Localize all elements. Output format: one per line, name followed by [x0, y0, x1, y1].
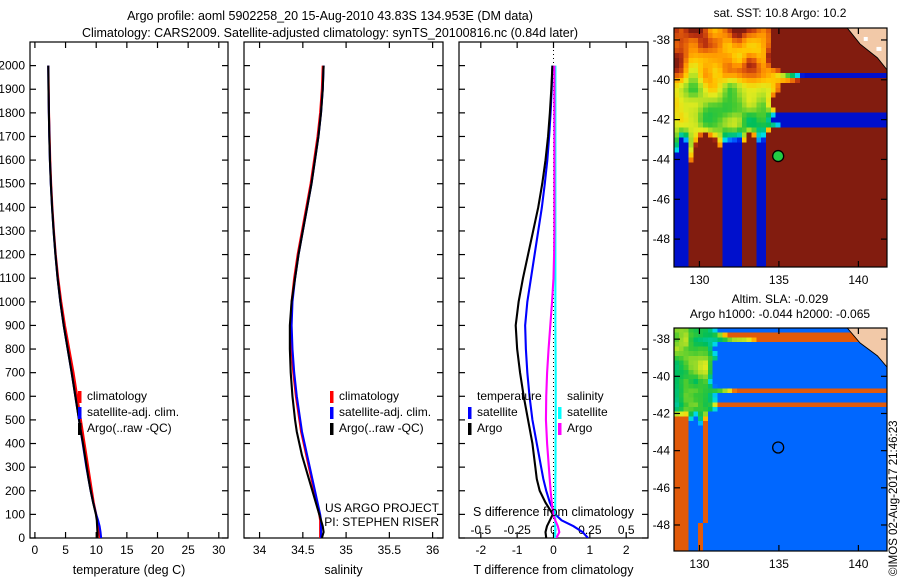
difference-profile-chart[interactable]: -2-1012-0.5-0.2500.250.5T difference fro…	[455, 38, 660, 580]
difference-legend-salinity-title: salinity	[567, 389, 604, 403]
y-tick-label: 1300	[0, 224, 25, 238]
x-tick-label: 36	[426, 543, 440, 557]
difference-legend-temperature-swatch	[468, 407, 472, 419]
sst-map[interactable]: 130135140-38-40-42-44-46-48	[660, 22, 900, 292]
y-tick-label: 1400	[0, 200, 25, 214]
y-tick-label: 900	[5, 318, 25, 332]
x-tick-label: 35	[339, 543, 353, 557]
x-axis-label: T difference from climatology	[473, 563, 634, 577]
map-y-tick-label: -42	[653, 113, 671, 127]
x-tick-label: 34.5	[291, 543, 315, 557]
sla-title-line-2: Argo h1000: -0.044 h2000: -0.065	[660, 307, 900, 322]
difference-legend-salinity-swatch	[558, 423, 562, 435]
y-tick-label: 200	[5, 484, 25, 498]
y-tick-label: 1100	[0, 271, 25, 285]
y-tick-label: 100	[5, 507, 25, 521]
map-x-tick-label: 130	[689, 273, 709, 287]
sla-title-line-1: Altim. SLA: -0.029	[660, 292, 900, 307]
map-y-tick-label: -46	[653, 481, 671, 495]
x-tick-top-label: 0.5	[618, 523, 635, 537]
difference-legend-salinity-swatch	[558, 407, 562, 419]
map-y-tick-label: -46	[653, 192, 671, 206]
x-tick-label: 10	[90, 543, 104, 557]
difference-profile-panel[interactable]: -2-1012-0.5-0.2500.250.5T difference fro…	[455, 38, 660, 580]
map-y-tick-label: -40	[653, 73, 671, 87]
x-tick-label: 34	[253, 543, 267, 557]
plot-frame	[244, 42, 443, 538]
argo-pi-label: PI: STEPHEN RISER	[324, 515, 439, 529]
map-x-tick-label: 135	[769, 273, 789, 287]
x-tick-label: 1	[587, 543, 594, 557]
land-pixel	[876, 47, 881, 51]
sla-map-title: Altim. SLA: -0.029 Argo h1000: -0.044 h2…	[660, 292, 900, 322]
x-tick-label: -2	[475, 543, 486, 557]
y-tick-label: 500	[5, 413, 25, 427]
x-axis-label: salinity	[324, 563, 363, 577]
difference-legend-salinity-label: Argo	[567, 421, 593, 435]
x-tick-label: 5	[62, 543, 69, 557]
salinity-profile-panel[interactable]: 3434.53535.536salinityclimatologysatelli…	[240, 38, 455, 580]
y-tick-label: 1700	[0, 129, 25, 143]
sst-map-title: sat. SST: 10.8 Argo: 10.2	[660, 6, 900, 21]
sla-map-panel[interactable]: 130135140-38-40-42-44-46-48	[660, 324, 900, 580]
page-title: Argo profile: aoml 5902258_20 15-Aug-201…	[0, 8, 660, 42]
map-field	[674, 28, 888, 268]
temperature-legend-swatch	[78, 391, 82, 403]
x-tick-top-label: -0.5	[470, 523, 491, 537]
temperature-legend-swatch	[78, 407, 82, 419]
salinity-legend-label: satellite-adj. clim.	[339, 405, 431, 419]
y-tick-label: 1200	[0, 248, 25, 262]
y-tick-label: 1000	[0, 295, 25, 309]
map-y-tick-label: -44	[653, 444, 671, 458]
map-field	[674, 328, 888, 552]
map-y-tick-label: -38	[653, 33, 671, 47]
map-x-tick-label: 135	[769, 557, 789, 571]
temperature-legend-label: Argo(..raw -QC)	[87, 421, 172, 435]
map-y-tick-label: -42	[653, 406, 671, 420]
x-tick-top-label: -0.25	[503, 523, 531, 537]
salinity-legend-swatch	[330, 391, 334, 403]
y-tick-label: 0	[18, 531, 25, 545]
y-tick-label: 1900	[0, 82, 25, 96]
imos-copyright-stamp: ©IMOS 02-Aug-2017 21:46:23	[886, 380, 900, 580]
y-tick-label: 300	[5, 460, 25, 474]
map-y-tick-label: -40	[653, 369, 671, 383]
map-y-tick-label: -44	[653, 152, 671, 166]
imos-copyright-text: ©IMOS 02-Aug-2017 21:46:23	[888, 420, 900, 576]
x-tick-label: 0	[32, 543, 39, 557]
y-tick-label: 400	[5, 437, 25, 451]
salinity-legend-swatch	[330, 407, 334, 419]
x-tick-label: 25	[181, 543, 195, 557]
y-tick-label: 700	[5, 366, 25, 380]
y-tick-label: 1800	[0, 106, 25, 120]
temperature-legend-label: climatology	[87, 389, 147, 403]
difference-legend-temperature-swatch	[468, 423, 472, 435]
y-tick-label: 2000	[0, 59, 25, 73]
x-axis-label-top: S difference from climatology	[473, 505, 635, 519]
y-tick-label: 1500	[0, 177, 25, 191]
map-y-tick-label: -48	[653, 518, 671, 532]
temperature-profile-panel[interactable]: 0510152025300100200300400500600700800900…	[0, 38, 240, 580]
map-x-tick-label: 140	[848, 557, 868, 571]
map-x-tick-label: 130	[689, 557, 709, 571]
x-tick-label: 0	[550, 543, 557, 557]
x-tick-label: 2	[623, 543, 630, 557]
x-tick-top-label: 0.25	[578, 523, 602, 537]
sla-map[interactable]: 130135140-38-40-42-44-46-48	[660, 324, 900, 580]
map-x-tick-label: 140	[848, 273, 868, 287]
difference-legend-temperature-title: temperature	[477, 389, 542, 403]
x-axis-label: temperature (deg C)	[73, 563, 186, 577]
x-tick-label: -1	[512, 543, 523, 557]
difference-legend-salinity-label: satellite	[567, 405, 608, 419]
y-tick-label: 1600	[0, 153, 25, 167]
x-tick-label: 35.5	[378, 543, 402, 557]
argo-project-label: US ARGO PROJECT	[325, 501, 440, 515]
y-tick-label: 600	[5, 389, 25, 403]
map-y-tick-label: -38	[653, 332, 671, 346]
y-tick-label: 800	[5, 342, 25, 356]
sst-map-panel[interactable]: 130135140-38-40-42-44-46-48	[660, 22, 900, 292]
difference-legend-temperature-label: Argo	[477, 421, 503, 435]
salinity-profile-chart[interactable]: 3434.53535.536salinityclimatologysatelli…	[240, 38, 455, 580]
salinity-legend-swatch	[330, 423, 334, 435]
difference-legend-temperature-label: satellite	[477, 405, 518, 419]
float-position-marker[interactable]	[773, 151, 784, 162]
map-y-tick-label: -48	[653, 232, 671, 246]
x-tick-label: 30	[212, 543, 226, 557]
salinity-legend-label: climatology	[339, 389, 399, 403]
salinity-legend-label: Argo(..raw -QC)	[339, 421, 424, 435]
temperature-legend-label: satellite-adj. clim.	[87, 405, 179, 419]
x-tick-label: 20	[151, 543, 165, 557]
x-tick-label: 15	[120, 543, 134, 557]
land-pixel	[864, 37, 868, 41]
temperature-legend-swatch	[78, 423, 82, 435]
temperature-profile-chart[interactable]: 0510152025300100200300400500600700800900…	[0, 38, 240, 580]
title-line-1: Argo profile: aoml 5902258_20 15-Aug-201…	[0, 8, 660, 25]
